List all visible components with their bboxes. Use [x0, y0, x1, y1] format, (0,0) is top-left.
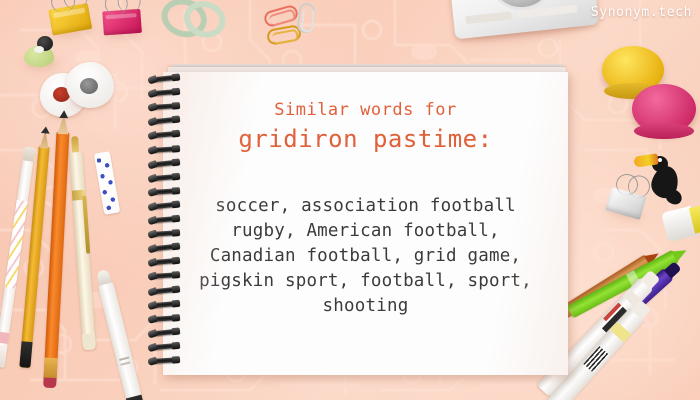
synonym-line: shooting — [163, 294, 568, 319]
spiral-coil — [150, 272, 180, 279]
spiral-coil — [150, 328, 180, 336]
site-watermark: Synonym.tech — [591, 5, 692, 20]
white-marker-pen — [97, 280, 146, 400]
spiral-coil — [150, 230, 180, 237]
spiral-coil — [150, 244, 180, 252]
heading-prefix: Similar words for — [163, 100, 568, 120]
spiral-coil — [150, 173, 180, 180]
spiral-coil — [150, 300, 180, 307]
spiral-coil — [150, 357, 180, 364]
synonym-line: soccer, association football — [163, 194, 568, 219]
spiral-coil — [150, 343, 180, 350]
synonym-line: Canadian football, grid game, — [163, 244, 568, 269]
spiral-coil — [150, 201, 180, 209]
synonym-list: soccer, association football rugby, Amer… — [163, 194, 568, 319]
spiral-coil — [150, 286, 180, 294]
green-bird-figurine — [20, 36, 60, 68]
notepad-content: Similar words for gridiron pastime: socc… — [163, 72, 568, 375]
spiral-coil — [150, 103, 180, 110]
spiral-coil — [150, 188, 180, 195]
spiral-binding — [150, 76, 184, 372]
synonym-line: pigskin sport, football, sport, — [163, 269, 568, 294]
spiral-coil — [150, 89, 180, 96]
blue-dot-eraser — [94, 151, 121, 215]
white-oval-eraser-gray — [66, 62, 114, 108]
silver-paper-clip — [296, 2, 315, 34]
spiral-coil — [150, 146, 180, 153]
notepad-page: Similar words for gridiron pastime: socc… — [163, 72, 568, 375]
spiral-coil — [150, 159, 180, 167]
synonym-line: rugby, American football, — [163, 219, 568, 244]
spiral-coil — [150, 74, 180, 82]
pink-macaron — [632, 84, 696, 134]
spiral-coil — [150, 258, 180, 265]
spiral-coil — [150, 117, 180, 125]
spiral-coil — [150, 131, 180, 138]
pen-pencil-cluster — [0, 130, 160, 400]
spiral-coil — [150, 315, 180, 322]
pink-binder-clip — [100, 2, 148, 39]
screenshot-canvas: Similar words for gridiron pastime: socc… — [0, 0, 700, 400]
cream-ballpoint-pen — [69, 150, 96, 350]
heading-term: gridiron pastime: — [163, 125, 568, 153]
spiral-coil — [150, 216, 180, 223]
